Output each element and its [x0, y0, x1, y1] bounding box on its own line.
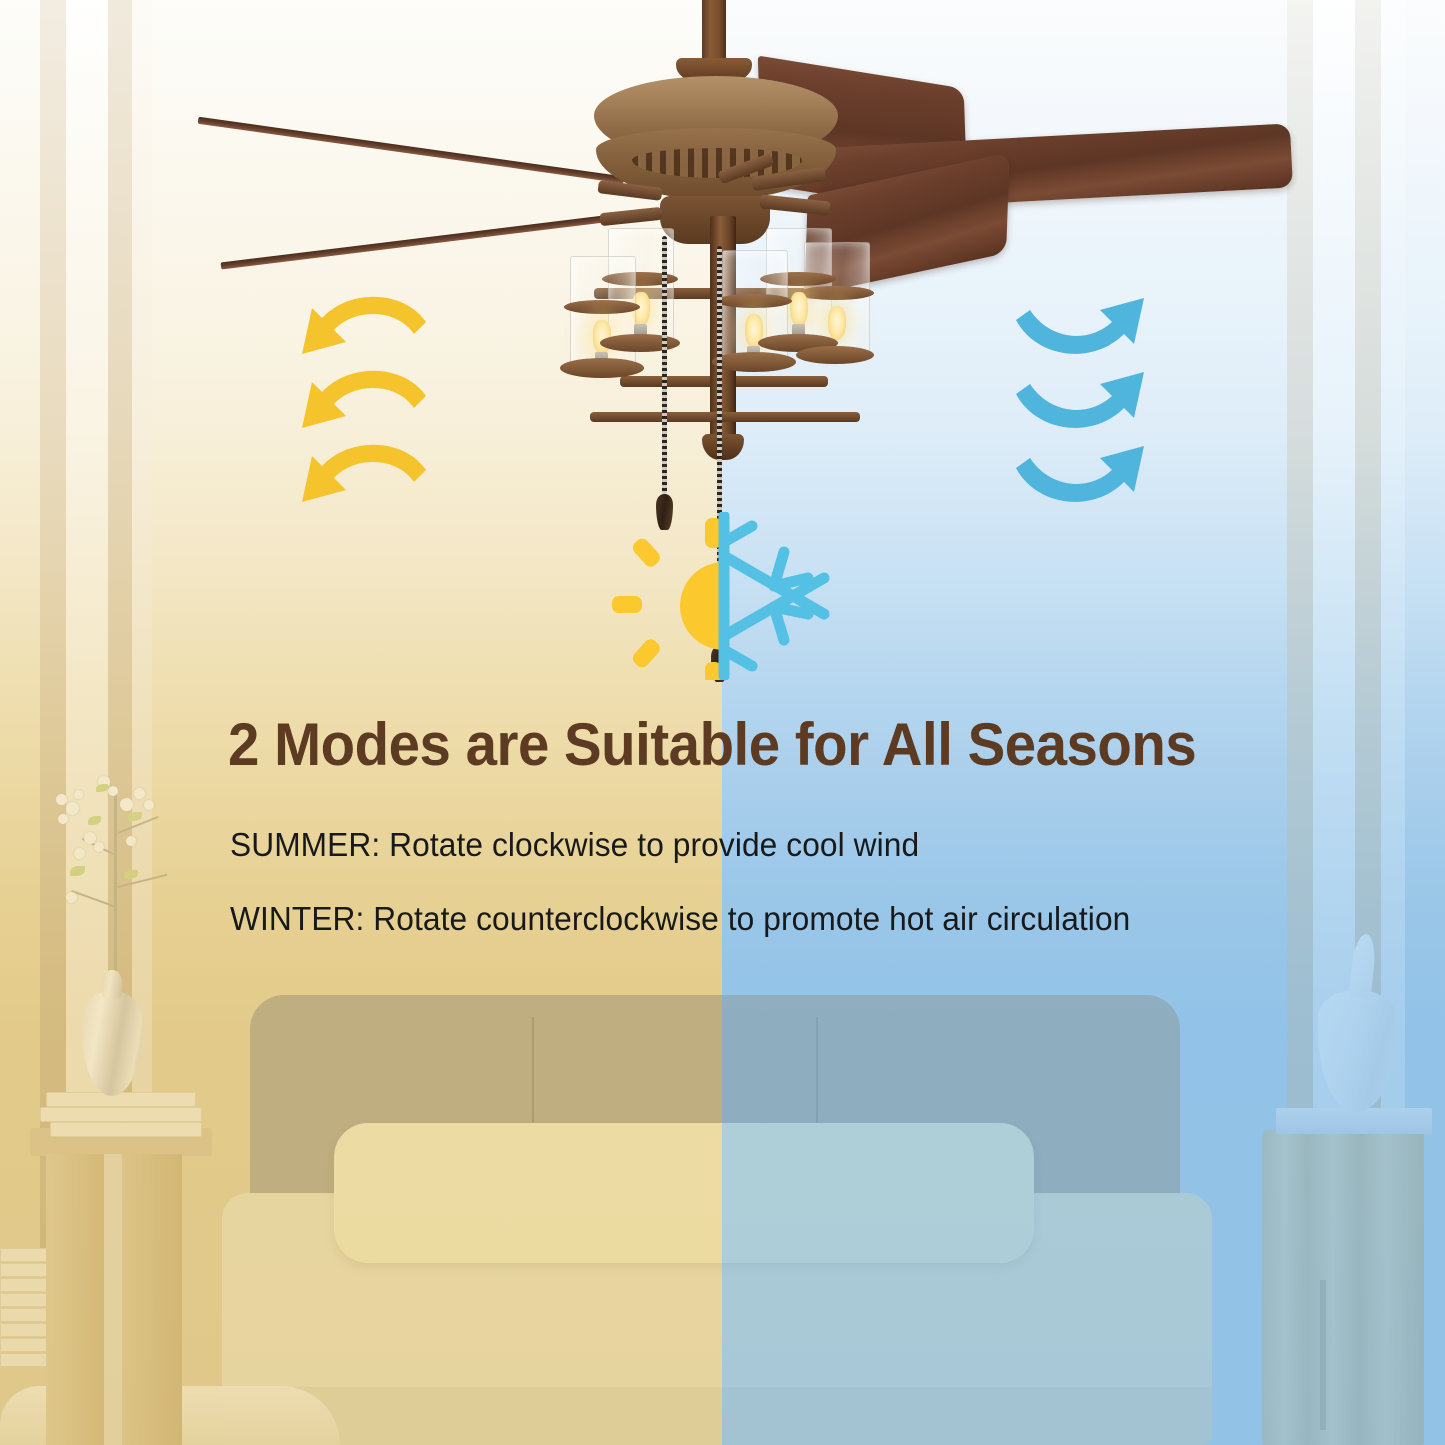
- nightstand-leg: [46, 1154, 104, 1445]
- sun-icon: [612, 518, 724, 680]
- shade-ring: [716, 294, 792, 308]
- light-fixture: [560, 216, 890, 466]
- fan-blade: [221, 214, 617, 269]
- nightstand-leg: [122, 1154, 182, 1445]
- shade-ring: [564, 300, 640, 314]
- pull-chain-light[interactable]: [662, 236, 667, 494]
- fan-blade: [198, 117, 625, 184]
- product-feature-image: 2 Modes are Suitable for All Seasons SUM…: [0, 0, 1445, 1445]
- duvet-fold: [222, 1387, 1212, 1445]
- nightstand-gap: [104, 1154, 122, 1445]
- pillow: [334, 1123, 1034, 1263]
- winter-mode-description: WINTER: Rotate counterclockwise to promo…: [230, 900, 1130, 938]
- edison-bulb: [828, 306, 846, 340]
- fixture-finial-cap: [702, 434, 744, 460]
- shade-base: [712, 352, 796, 372]
- page-title: 2 Modes are Suitable for All Seasons: [228, 714, 1177, 776]
- shade-base: [560, 358, 644, 378]
- airflow-arrows-warm: [292, 284, 472, 506]
- snowflake-icon: [724, 516, 824, 676]
- shade-ring: [798, 286, 874, 300]
- edison-bulb: [790, 292, 808, 326]
- season-split-icon: [612, 512, 836, 680]
- shade-base: [600, 334, 680, 352]
- stump-stool: [1262, 1130, 1424, 1445]
- bed: [222, 975, 1212, 1445]
- summer-mode-description: SUMMER: Rotate clockwise to provide cool…: [230, 826, 919, 864]
- fixture-lower-arm: [590, 412, 860, 422]
- airflow-arrows-cool: [1012, 284, 1192, 506]
- nightstand-left: [30, 1128, 212, 1445]
- shade-base: [796, 346, 874, 364]
- books-stack-left: [46, 1092, 194, 1138]
